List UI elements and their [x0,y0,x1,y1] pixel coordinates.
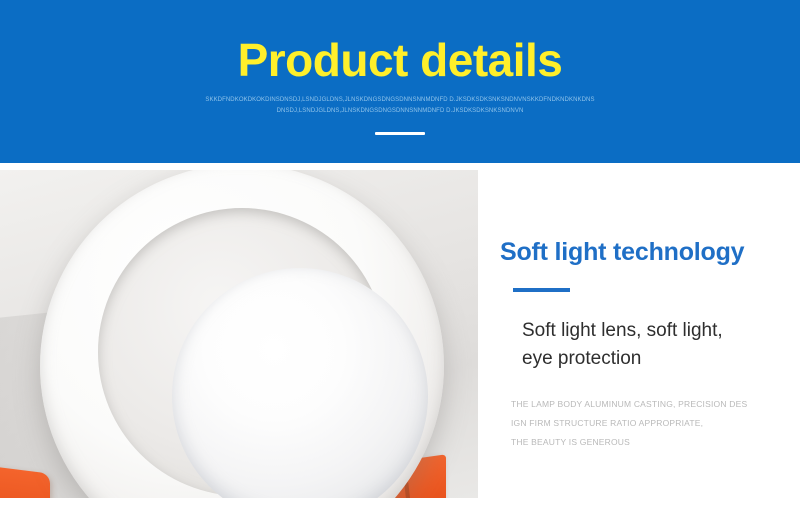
feature-caption: THE LAMP BODY ALUMINUM CASTING, PRECISIO… [511,395,800,452]
lamp-diffuser-lens [172,268,428,498]
product-photo [0,170,478,498]
feature-text-column: Soft light technology Soft light lens, s… [500,236,800,452]
product-details-page: Product details SKKDFNDKOKDKOKDINSDNSDJ,… [0,0,800,515]
header-divider [375,132,425,135]
feature-body-text: Soft light lens, soft light, eye protect… [522,317,800,373]
banner-subtitle-line-2: DNSDJ,LSNDJGLDNS,JLNSKDNGSDNGSDNNSNNMDNF… [0,106,800,117]
lamp-inner-bevel [98,208,386,496]
feature-caption-line-2: IGN FIRM STRUCTURE RATIO APPROPRIATE, [511,414,800,433]
header-banner: Product details SKKDFNDKOKDKOKDINSDNSDJ,… [0,0,800,163]
feature-caption-line-3: THE BEAUTY IS GENEROUS [511,433,800,452]
feature-body-line-2: eye protection [522,345,800,373]
banner-subtitle: SKKDFNDKOKDKOKDINSDNSDJ,LSNDJGLDNS,JLNSK… [0,95,800,117]
page-title: Product details [0,33,800,87]
feature-body-line-1: Soft light lens, soft light, [522,317,800,345]
feature-headline: Soft light technology [500,236,800,268]
feature-caption-line-1: THE LAMP BODY ALUMINUM CASTING, PRECISIO… [511,395,800,414]
banner-subtitle-line-1: SKKDFNDKOKDKOKDINSDNSDJ,LSNDJGLDNS,JLNSK… [0,95,800,106]
feature-accent-bar [513,288,570,292]
